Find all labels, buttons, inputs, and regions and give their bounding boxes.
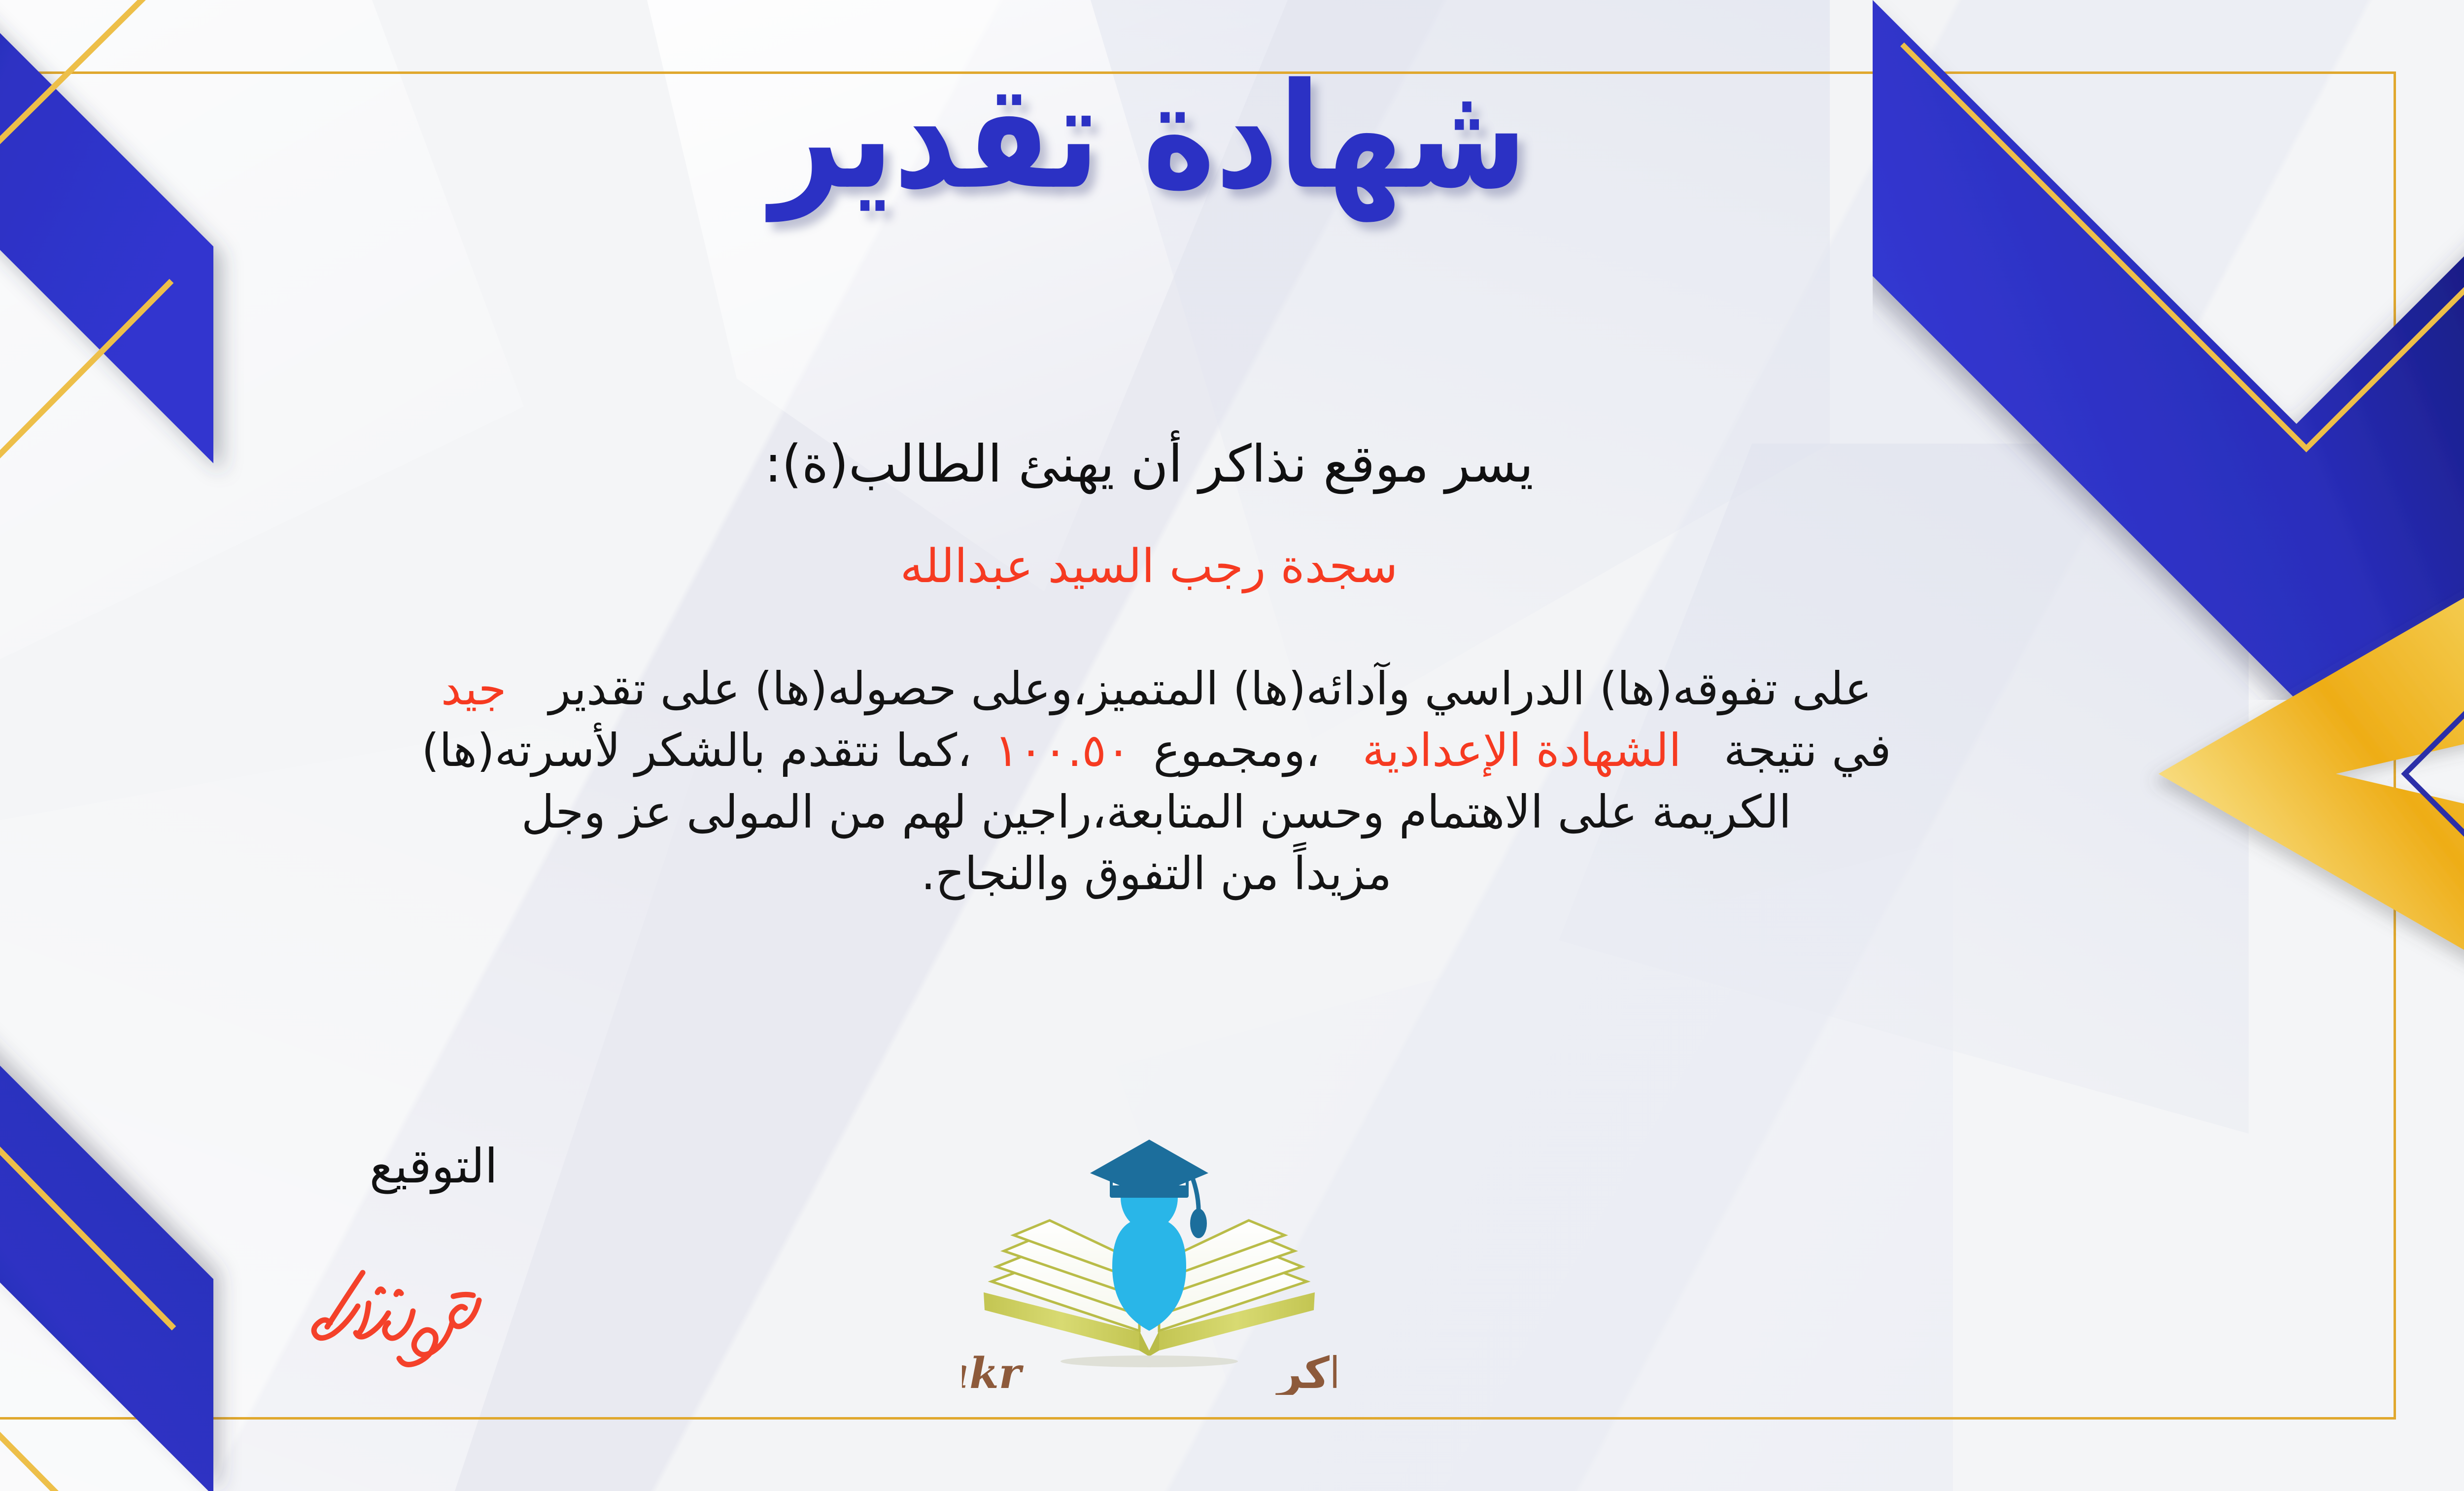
body-line-2: في نتيجةالشهادة الإعدادية،ومجموع١٠٠.٥٠،ك… [0,720,2316,781]
logo-latin-name: Nezakr [962,1349,1024,1395]
certificate-type-value: الشهادة الإعدادية [1363,724,1681,777]
greeting-text: يسر موقع نذاكر أن يهنئ الطالب(ة): [0,434,2464,494]
student-name: سجدة رجب السيد عبدالله [0,540,2464,593]
nezakr-logo: نذاكر Nezakr [962,1119,1336,1395]
body-line-3: الكريمة على الاهتمام وحسن المتابعة،راجين… [0,781,2316,843]
certificate-canvas: شهادة تقدير يسر موقع نذاكر أن يهنئ الطال… [0,0,2464,1491]
thanks-text: ،كما نتقدم بالشكر لأسرته(ها) [421,724,972,777]
total-score-value: ١٠٠.٥٠ [994,724,1130,777]
body-line-1: على تفوقه(ها) الدراسي وآدائه(ها) المتميز… [0,658,2316,720]
signature-label: التوقيع [370,1139,498,1194]
total-label: ،ومجموع [1153,724,1320,777]
signature-mark [286,1262,498,1390]
result-prefix: في نتيجة [1724,724,1891,777]
grade-value: جيد [441,662,507,715]
body-line-1-text: على تفوقه(ها) الدراسي وآدائه(ها) المتميز… [549,662,1872,715]
logo-arabic-name: نذاكر [1275,1348,1336,1395]
body-line-4: مزيداً من التفوق والنجاح. [0,843,2316,904]
certificate-body: على تفوقه(ها) الدراسي وآدائه(ها) المتميز… [0,658,2316,904]
certificate-content: شهادة تقدير يسر موقع نذاكر أن يهنئ الطال… [0,0,2464,1491]
page-title: شهادة تقدير [0,52,2464,221]
